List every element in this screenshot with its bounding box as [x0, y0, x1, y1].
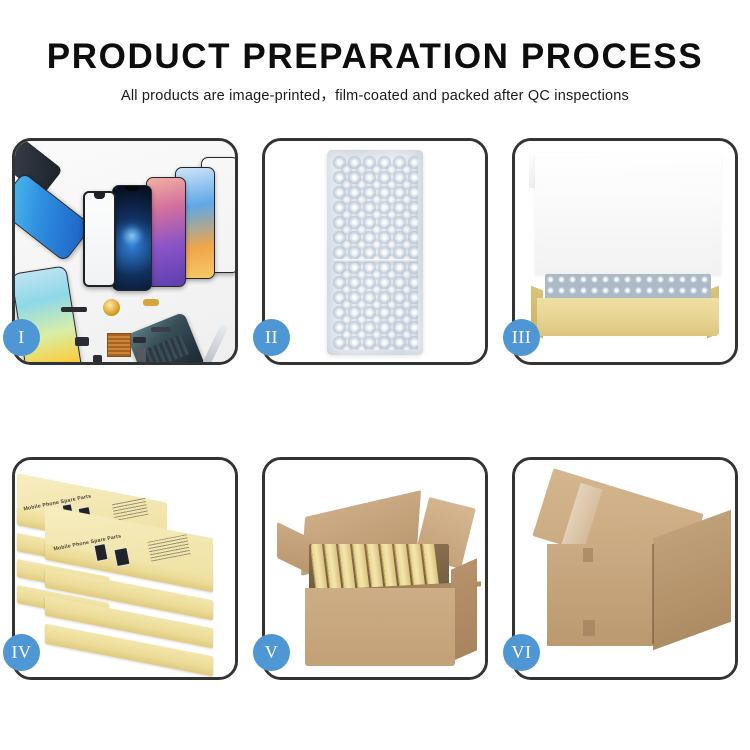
step-badge-1: I: [3, 319, 40, 356]
panel-image-sealed-carton: [515, 460, 735, 677]
step-panel-carton-filling: V: [262, 457, 488, 680]
step-panel-bubble-wrap-packing: II: [262, 138, 488, 365]
box-stack: Mobile Phone Spare Parts Mobile Phone Sp…: [15, 460, 235, 677]
step-panel-phone-screens-and-spare-parts: I: [12, 138, 238, 365]
phone-screen-dark-icon: [112, 185, 152, 291]
product-preparation-infographic: PRODUCT PREPARATION PROCESS All products…: [0, 0, 750, 750]
foam-insert-icon: [543, 185, 713, 269]
sealed-carton-front: [547, 544, 653, 646]
carton-seam-upper: [583, 548, 593, 562]
flex-cable-icon: [61, 307, 87, 312]
antenna-flex-icon: [151, 327, 171, 332]
button-flex-icon: [133, 337, 146, 343]
panel-image-inner-box-packing: [515, 141, 735, 362]
step-badge-5: V: [253, 634, 290, 671]
step-panel-inner-box-packing: III: [512, 138, 738, 365]
panel-image-phone-screens-and-spare-parts: [15, 141, 235, 362]
phone-screen-purple-icon: [146, 177, 186, 287]
step-badge-3: III: [503, 319, 540, 356]
phone-screen-blue-tilted-icon: [15, 172, 93, 262]
process-steps-grid: I II: [12, 138, 738, 680]
vibration-motor-icon: [103, 299, 120, 316]
phone-glass-panel-icon: [83, 191, 116, 287]
panel-image-carton-filling: [265, 460, 485, 677]
step-panel-stacked-retail-boxes: Mobile Phone Spare Parts Mobile Phone Sp…: [12, 457, 238, 680]
battery-icon: [137, 347, 146, 362]
step-panel-sealed-carton: VI: [512, 457, 738, 680]
step-badge-6: VI: [503, 634, 540, 671]
carton-body: [305, 588, 455, 666]
speaker-icon: [93, 355, 102, 362]
carton-edge-vertical: [652, 544, 654, 644]
step-badge-4: IV: [3, 634, 40, 671]
bag-seam: [333, 259, 417, 263]
bubble-wrap-bag-icon: [327, 150, 423, 355]
panel-image-bubble-wrap-packing: [265, 141, 485, 362]
tweezers-icon: [201, 324, 228, 362]
connector-icon: [143, 299, 159, 306]
carton-seam-lower: [583, 620, 595, 636]
panel-image-stacked-retail-boxes: Mobile Phone Spare Parts Mobile Phone Sp…: [15, 460, 235, 677]
step-badge-2: II: [253, 319, 290, 356]
bubble-pattern-back: [339, 162, 418, 350]
bubble-wrapped-contents-icon: [545, 274, 711, 300]
copper-mesh-chip-icon: [107, 333, 131, 357]
box-tray-front: [537, 298, 719, 336]
camera-module-icon: [75, 337, 89, 346]
page-title: PRODUCT PREPARATION PROCESS: [0, 38, 750, 77]
page-subtitle: All products are image-printed，film-coat…: [0, 84, 750, 105]
